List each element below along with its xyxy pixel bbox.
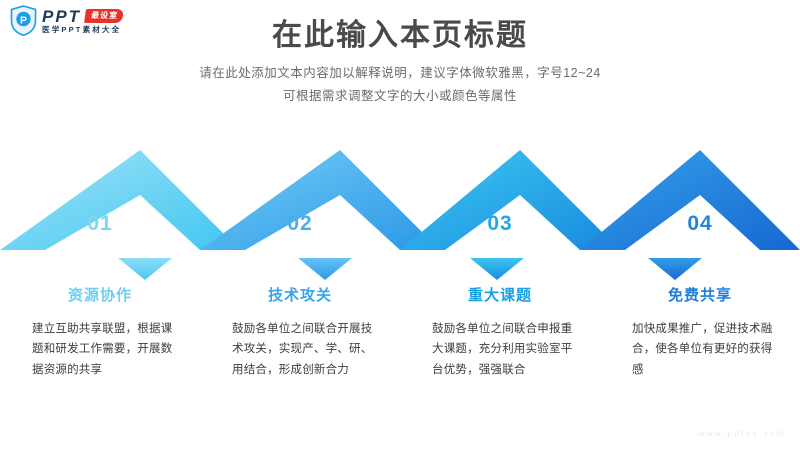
page-title: 在此输入本页标题: [0, 16, 800, 55]
page-subtitle: 请在此处添加文本内容加以解释说明，建议字体微软雅黑，字号12~24 可根据需求调…: [0, 62, 800, 108]
step-body-3: 鼓励各单位之间联合申报重大课题，充分利用实验室平台优势，强强联合: [418, 319, 582, 380]
step-body-4: 加快成果推广，促进技术融合，使各单位有更好的获得感: [618, 319, 782, 380]
step-column-1: 资源协作 建立互助共享联盟，根据课题和研发工作需要，开展数据资源的共享: [0, 288, 200, 380]
page-subtitle-line-1: 请在此处添加文本内容加以解释说明，建议字体微软雅黑，字号12~24: [0, 62, 800, 85]
chevron-segment-4: [580, 150, 800, 250]
step-body-2: 鼓励各单位之间联合开展技术攻关，实现产、学、研、用结合，形成创新合力: [218, 319, 382, 380]
step-column-4: 免费共享 加快成果推广，促进技术融合，使各单位有更好的获得感: [600, 288, 800, 380]
page-subtitle-line-2: 可根据需求调整文字的大小或颜色等属性: [0, 85, 800, 108]
pointer-triangle-3: [470, 258, 524, 280]
step-columns: 资源协作 建立互助共享联盟，根据课题和研发工作需要，开展数据资源的共享 技术攻关…: [0, 288, 800, 380]
chevron-segment-2: [200, 150, 440, 250]
step-number-04: 04: [600, 213, 800, 234]
step-heading-1: 资源协作: [18, 288, 182, 303]
step-number-row: 01 02 03 04: [0, 213, 800, 234]
pointer-triangle-4: [648, 258, 702, 280]
step-column-3: 重大课题 鼓励各单位之间联合申报重大课题，充分利用实验室平台优势，强强联合: [400, 288, 600, 380]
pointer-triangle-2: [298, 258, 352, 280]
chevron-segment-3: [400, 150, 620, 250]
site-watermark: www.pptes.com: [699, 429, 786, 438]
pointer-triangle-1: [118, 258, 172, 280]
step-heading-4: 免费共享: [618, 288, 782, 303]
step-body-1: 建立互助共享联盟，根据课题和研发工作需要，开展数据资源的共享: [18, 319, 182, 380]
step-number-01: 01: [0, 213, 200, 234]
step-heading-3: 重大课题: [418, 288, 582, 303]
step-number-02: 02: [200, 213, 400, 234]
step-column-2: 技术攻关 鼓励各单位之间联合开展技术攻关，实现产、学、研、用结合，形成创新合力: [200, 288, 400, 380]
chevron-segment-1: [0, 150, 240, 250]
step-heading-2: 技术攻关: [218, 288, 382, 303]
step-number-03: 03: [400, 213, 600, 234]
